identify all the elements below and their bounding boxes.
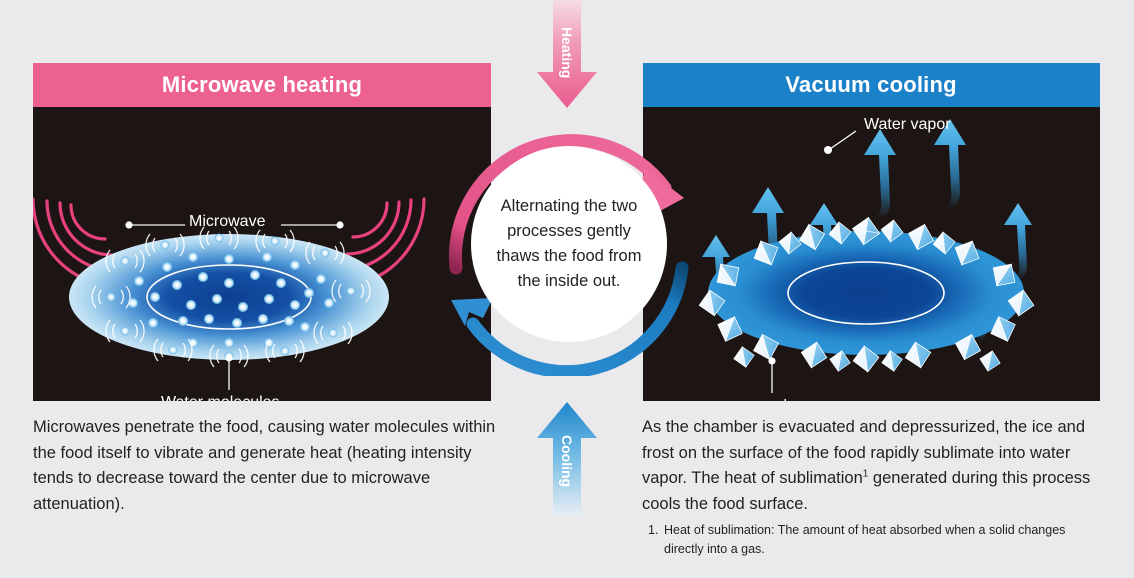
- heating-arrow-label: Heating: [535, 14, 599, 92]
- label-microwave: Microwave: [189, 213, 265, 231]
- footnote-number: 1.: [648, 521, 664, 540]
- cooling-arrow-label: Cooling: [535, 422, 599, 500]
- panel-title-vacuum-cooling: Vacuum cooling: [642, 63, 1100, 107]
- panel-vacuum-cooling: Vacuum cooling: [642, 63, 1100, 401]
- center-summary-text: Alternating the two processes gently tha…: [471, 194, 667, 294]
- label-water-molecules: Water molecules: [161, 394, 280, 401]
- panel-title-microwave-heating: Microwave heating: [33, 63, 491, 107]
- panel-body-microwave-heating: Microwave Water molecules: [33, 107, 491, 401]
- label-ice: Ice: [783, 397, 804, 401]
- process-arrow-cooling: Cooling: [535, 400, 599, 515]
- label-water-vapor: Water vapor: [864, 116, 951, 134]
- infographic-canvas: Microwave heating: [0, 0, 1134, 578]
- water-vapor-leader-line: [824, 131, 856, 154]
- footnote-text: Heat of sublimation: The amount of heat …: [664, 521, 1098, 559]
- footnote: 1. Heat of sublimation: The amount of he…: [648, 521, 1098, 559]
- caption-vacuum-cooling: As the chamber is evacuated and depressu…: [642, 415, 1108, 517]
- center-summary-circle: Alternating the two processes gently tha…: [471, 146, 667, 342]
- vacuum-cooling-illustration: [642, 107, 1100, 401]
- caption-microwave-heating: Microwaves penetrate the food, causing w…: [33, 415, 503, 517]
- microwave-heating-illustration: [33, 107, 491, 401]
- water-molecules-leader-line: [225, 354, 232, 390]
- panel-microwave-heating: Microwave heating: [33, 63, 491, 401]
- process-arrow-heating: Heating: [535, 0, 599, 110]
- ice-leader-line: [768, 357, 775, 393]
- food-body: [708, 231, 1024, 355]
- panel-body-vacuum-cooling: Water vapor Ice: [642, 107, 1100, 401]
